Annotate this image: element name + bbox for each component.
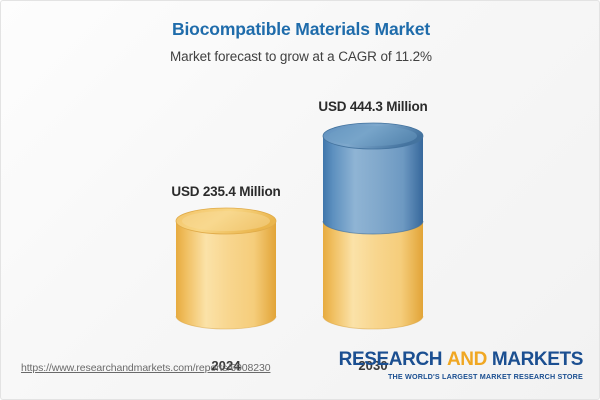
market-forecast-chart-card: Biocompatible Materials Market Market fo… — [0, 0, 600, 400]
report-url-link[interactable]: https://www.researchandmarkets.com/repor… — [21, 362, 270, 374]
logo-word-and: AND — [447, 349, 487, 370]
bar-group-2024: USD 235.4 Million — [150, 206, 302, 346]
chart-footer: https://www.researchandmarkets.com/repor… — [1, 344, 600, 399]
logo-word-markets: MARKETS — [492, 349, 583, 370]
bar-group-2030: USD 444.3 Million — [297, 121, 449, 346]
logo-tagline: THE WORLD'S LARGEST MARKET RESEARCH STOR… — [339, 372, 583, 381]
logo-word-research: RESEARCH — [339, 349, 442, 370]
logo-wordmark: RESEARCH AND MARKETS — [339, 350, 583, 370]
research-and-markets-logo[interactable]: RESEARCH AND MARKETS THE WORLD'S LARGEST… — [339, 350, 583, 381]
cylinder-2030 — [297, 121, 449, 346]
chart-plot-area: USD 235.4 Million — [1, 1, 600, 346]
cylinder-2024 — [150, 206, 302, 346]
bar-value-label-2030: USD 444.3 Million — [263, 99, 483, 114]
